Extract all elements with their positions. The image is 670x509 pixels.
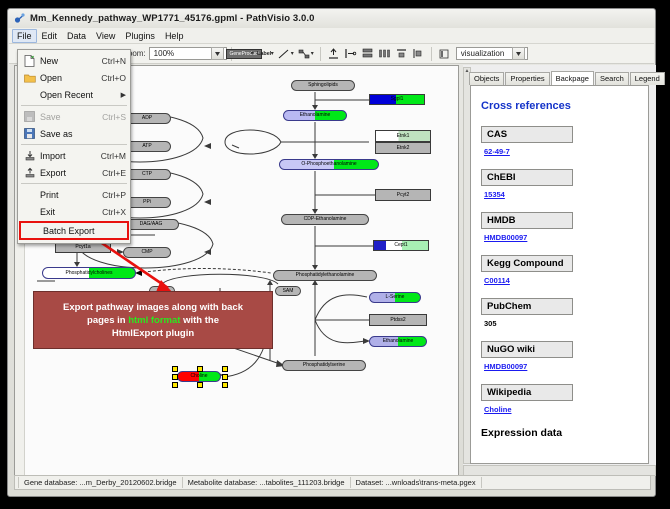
menu-view[interactable]: View [91, 29, 120, 43]
status-gene-database: Gene database: ...m_Derby_20120602.bridg… [18, 477, 183, 488]
file-menu-item-save-as[interactable]: Save as [18, 125, 130, 142]
file-menu-item-label: Open Recent [37, 90, 117, 100]
handle-sw[interactable] [172, 382, 178, 388]
file-menu-item-label: Export [37, 168, 96, 178]
zoom-value: 100% [154, 49, 211, 58]
chevron-down-icon[interactable]: ▾ [251, 50, 254, 57]
align-top-icon[interactable] [325, 46, 342, 61]
pathway-node-label: Pcyt2 [397, 193, 410, 198]
file-menu-item-shortcut: Ctrl+O [95, 73, 126, 83]
callout-highlight: html format [128, 315, 180, 326]
common-width-icon[interactable] [410, 46, 427, 61]
tab-backpage[interactable]: Backpage [551, 71, 594, 86]
side-panel-tabs: Objects Properties Backpage Search Legen… [469, 71, 656, 85]
file-menu-item-label: Exit [37, 207, 96, 217]
visualization-icon[interactable] [436, 46, 453, 61]
xref-db-label: ChEBI [481, 169, 573, 186]
pathway-node-etnk2[interactable]: Etnk2 [375, 142, 431, 154]
pathway-node-label: PPi [143, 200, 151, 205]
menu-edit[interactable]: Edit [37, 29, 63, 43]
side-panel: ▲ Objects Properties Backpage Search Leg… [463, 65, 656, 476]
menu-data[interactable]: Data [62, 29, 91, 43]
file-menu-item-open[interactable]: OpenCtrl+O [18, 69, 130, 86]
handle-n[interactable] [197, 366, 203, 372]
file-menu-item-shortcut: Ctrl+M [95, 151, 126, 161]
title-bar: Mm_Kennedy_pathway_WP1771_45176.gpml - P… [8, 9, 655, 28]
handle-se[interactable] [222, 382, 228, 388]
file-menu-item-label: Import [37, 151, 95, 161]
pathway-node-label: Sgpl1 [391, 97, 404, 102]
export-icon [22, 166, 37, 180]
pathway-node-label: SAM [283, 289, 294, 294]
cross-reference-list: CAS62-49-7ChEBI15354HMDBHMDB00097Kegg Co… [481, 126, 638, 414]
xref-db-label: Kegg Compound [481, 255, 573, 272]
file-menu-item-shortcut: Ctrl+X [96, 207, 126, 217]
file-menu-item-label: New [37, 56, 96, 66]
pathway-node-phosphatidylcholines[interactable]: Phosphatidylcholines [42, 267, 136, 279]
pathway-node-label: Etnk2 [397, 146, 410, 151]
import-icon [22, 149, 37, 163]
chevron-down-icon[interactable]: ▾ [311, 50, 314, 57]
xref-value: 305 [484, 319, 638, 328]
menu-bar: File Edit Data View Plugins Help [9, 28, 654, 44]
label-button-text: Label [257, 51, 271, 57]
stack-vertical-icon[interactable] [359, 46, 376, 61]
menu-separator [21, 183, 127, 184]
pathway-node-label: Ptdss2 [390, 318, 405, 323]
screenshot-root: Mm_Kennedy_pathway_WP1771_45176.gpml - P… [0, 0, 670, 509]
save-as-icon [22, 127, 37, 141]
file-menu-item-label: Print [37, 190, 96, 200]
chevron-down-icon[interactable]: ▾ [291, 50, 294, 57]
file-menu-item-shortcut: Ctrl+E [96, 168, 126, 178]
pathway-node-o-phosphoethanolamine[interactable]: O-Phosphoethanolamine [279, 159, 379, 170]
file-menu-item-label: Batch Export [40, 226, 123, 236]
pathway-node-cmp[interactable]: CMP [123, 247, 171, 258]
xref-db-label: PubChem [481, 298, 573, 315]
pathway-node-sphingolipids[interactable]: Sphingolipids [291, 80, 355, 91]
save-icon [22, 110, 37, 124]
backpage-heading: Cross references [481, 100, 638, 112]
callout-line-1: Export pathway images along with back [63, 301, 243, 314]
handle-w[interactable] [172, 374, 178, 380]
pathway-node-etnk1[interactable]: Etnk1 [375, 130, 431, 142]
file-menu-item-export[interactable]: ExportCtrl+E [18, 164, 130, 181]
file-menu-item-import[interactable]: ImportCtrl+M [18, 147, 130, 164]
tab-properties[interactable]: Properties [505, 72, 549, 85]
window-title: Mm_Kennedy_pathway_WP1771_45176.gpml - P… [30, 13, 315, 24]
xref-link[interactable]: 15354 [484, 190, 638, 199]
callout-line-3: HtmlExport plugin [112, 327, 194, 340]
file-menu-item-shortcut: Ctrl+P [96, 190, 126, 200]
file-menu-item-exit[interactable]: ExitCtrl+X [18, 203, 130, 220]
handle-nw[interactable] [172, 366, 178, 372]
pathway-node-dag-aag[interactable]: DAG/AAG [123, 219, 179, 230]
file-menu-item-batch-export[interactable]: Batch Export [19, 221, 129, 240]
tab-legend[interactable]: Legend [630, 72, 665, 85]
folder-open-icon [22, 71, 37, 85]
pathway-node-cdp-ethanolamine[interactable]: CDP-Ethanolamine [281, 214, 369, 225]
file-menu-item-open-recent[interactable]: Open Recent▶ [18, 86, 130, 103]
file-menu-item-print[interactable]: PrintCtrl+P [18, 186, 130, 203]
pathway-node-label: CDP-Ethanolamine [304, 217, 347, 222]
file-menu-item-label: Save [37, 112, 96, 122]
chevron-right-icon: ▶ [117, 91, 126, 99]
file-menu-item-shortcut: Ctrl+N [96, 56, 126, 66]
pathway-node-phosphatidylethanolamine[interactable]: Phosphatidylethanolamine [273, 270, 377, 281]
menu-separator [21, 105, 127, 106]
file-menu-item-save: SaveCtrl+S [18, 108, 130, 125]
toolbar-separator [320, 47, 321, 61]
pathway-node-label: CMP [141, 250, 152, 255]
menu-icon-none [22, 188, 37, 202]
tab-objects[interactable]: Objects [469, 72, 504, 85]
tab-search[interactable]: Search [595, 72, 629, 85]
visualization-value: visualization [461, 49, 512, 58]
backpage-content: Cross references CAS62-49-7ChEBI15354HMD… [470, 85, 649, 464]
callout-line-2a: pages in [87, 315, 128, 326]
chevron-down-icon[interactable] [211, 47, 224, 60]
menu-icon-none [25, 224, 40, 238]
status-bar: Gene database: ...m_Derby_20120602.bridg… [14, 475, 651, 490]
handle-s[interactable] [197, 382, 203, 388]
visualization-combobox[interactable]: visualization [456, 47, 528, 60]
xref-db-label: CAS [481, 126, 573, 143]
pathway-node-label: Phosphatidylserine [303, 363, 345, 368]
expression-data-heading: Expression data [481, 427, 638, 439]
pathway-node-label: Sphingolipids [308, 83, 338, 88]
status-dataset: Dataset: ...wnloads\trans-meta.pgex [351, 477, 482, 488]
pathway-node-l-serine[interactable]: L-Serine [369, 292, 421, 303]
status-metabolite-database: Metabolite database: ...tabolites_111203… [183, 477, 351, 488]
pathway-node-label: CTP [142, 172, 152, 177]
menu-icon-none [22, 88, 37, 102]
distribute-horizontal-icon[interactable] [376, 46, 393, 61]
xref-link[interactable]: C00114 [484, 276, 638, 285]
pathway-node-pcyt2[interactable]: Pcyt2 [375, 189, 431, 201]
callout-line-2: pages in html format with the [87, 314, 219, 327]
file-menu-item-new[interactable]: NewCtrl+N [18, 52, 130, 69]
pathway-node-sam[interactable]: SAM [275, 286, 301, 296]
pathvisio-app-icon [14, 13, 25, 24]
xref-db-label: HMDB [481, 212, 573, 229]
pathway-node-label: Ethanolamine [300, 113, 331, 118]
chevron-down-icon[interactable] [512, 47, 525, 60]
menu-help[interactable]: Help [160, 29, 189, 43]
pathway-node-ethanolamine-top[interactable]: Ethanolamine [283, 110, 347, 121]
xref-link[interactable]: 62-49-7 [484, 147, 638, 156]
handle-e[interactable] [222, 374, 228, 380]
pathway-node-label: Phosphatidylcholines [66, 271, 113, 276]
pathway-node-label: ATP [142, 144, 151, 149]
pathway-node-label: O-Phosphoethanolamine [301, 162, 356, 167]
application-window: Mm_Kennedy_pathway_WP1771_45176.gpml - P… [7, 8, 656, 497]
align-bottom-icon[interactable] [393, 46, 410, 61]
selection-handles[interactable] [174, 368, 224, 385]
pathway-node-label: Pcyt1a [75, 245, 90, 250]
pathway-node-label: Cept1 [394, 243, 407, 248]
pathway-node-label: DAG/AAG [140, 222, 163, 227]
new-file-icon [22, 54, 37, 68]
pathway-node-sgpl1[interactable]: Sgpl1 [369, 94, 425, 105]
xref-link[interactable]: HMDB00097 [484, 362, 638, 371]
pathway-node-cept1[interactable]: Cept1 [373, 240, 429, 251]
pathway-node-label: L-Serine [386, 295, 405, 300]
xref-link[interactable]: Choline [484, 405, 638, 414]
file-menu-item-label: Open [37, 73, 95, 83]
pathway-node-label: Etnk1 [397, 134, 410, 139]
file-menu-popup[interactable]: NewCtrl+NOpenCtrl+OOpen Recent▶SaveCtrl+… [17, 49, 131, 244]
toolbar-separator [431, 47, 432, 61]
xref-db-label: NuGO wiki [481, 341, 573, 358]
pathway-node-label: Ethanolamine [383, 339, 414, 344]
chevron-down-icon[interactable]: ▾ [271, 50, 274, 57]
file-menu-item-shortcut: Ctrl+S [96, 112, 126, 122]
pathway-node-ptdss2[interactable]: Ptdss2 [369, 314, 427, 326]
menu-separator [21, 144, 127, 145]
zoom-combobox[interactable]: 100% [149, 47, 227, 60]
pathway-node-label: Phosphatidylethanolamine [296, 273, 355, 278]
menu-file[interactable]: File [12, 29, 37, 43]
xref-link[interactable]: HMDB00097 [484, 233, 638, 242]
menu-icon-none [22, 205, 37, 219]
pathway-node-phosphatidylserine[interactable]: Phosphatidylserine [282, 360, 366, 371]
annotation-callout: Export pathway images along with back pa… [33, 291, 273, 349]
menu-plugins[interactable]: Plugins [120, 29, 160, 43]
callout-line-2c: with the [180, 315, 219, 326]
handle-ne[interactable] [222, 366, 228, 372]
file-menu-item-label: Save as [37, 129, 126, 139]
align-left-icon[interactable] [342, 46, 359, 61]
xref-db-label: Wikipedia [481, 384, 573, 401]
pathway-node-ethanolamine-bottom[interactable]: Ethanolamine [369, 336, 427, 347]
pathway-node-label: ADP [142, 116, 152, 121]
